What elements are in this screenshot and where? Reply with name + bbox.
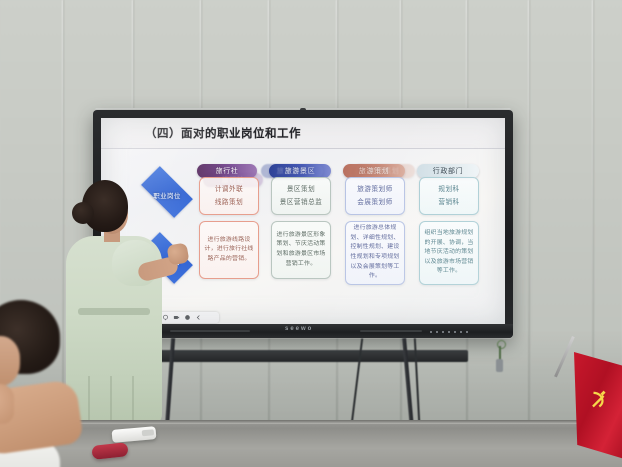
presenter-hair-bun <box>72 202 94 224</box>
role-0-0: 计调外联 <box>215 183 243 196</box>
column-header-2-ghost: 旅游策划 <box>353 164 415 178</box>
role-1-0: 景区策划 <box>287 183 315 196</box>
role-2-1: 会展策划师 <box>357 196 392 209</box>
meeting-room-scene: （四）面对的职业岗位和工作 职业岗位 工作内容 旅行社 旅行社 计调外联 线路策… <box>0 0 622 467</box>
audience-person <box>0 300 172 467</box>
column-header-3-text: 行政部门 <box>433 166 463 176</box>
role-card-3[interactable]: 规划科 营销科 <box>419 177 479 215</box>
column-header-1-ghost: 旅游景区 <box>261 164 323 178</box>
role-card-0[interactable]: 计调外联 线路策划 <box>199 177 259 215</box>
role-card-1[interactable]: 景区策划 景区营销总监 <box>271 177 331 215</box>
role-2-0: 旅游策划师 <box>357 183 392 196</box>
role-1-1: 景区营销总监 <box>280 196 323 209</box>
desc-1-text: 进行旅游景区形象策划、节庆活动策划和旅游景区市场营销工作。 <box>272 227 330 273</box>
slide-title-bar: （四）面对的职业岗位和工作 <box>101 118 505 149</box>
screenshot-icon[interactable] <box>173 314 180 321</box>
column-header-3[interactable]: 行政部门 <box>417 164 479 178</box>
hammer-sickle-icon <box>588 388 610 412</box>
audience-hand <box>0 384 14 424</box>
page-title: （四）面对的职业岗位和工作 <box>145 125 301 141</box>
hanging-keys <box>494 340 506 374</box>
role-3-1: 营销科 <box>438 196 459 209</box>
audience-arm <box>0 379 84 457</box>
role-0-1: 线路策划 <box>215 196 243 209</box>
desc-card-2[interactable]: 进行旅游总体规划、详细性规划、控制性规划、建设性规划和专项规划以及会展策划等工作… <box>345 221 405 285</box>
role-card-2[interactable]: 旅游策划师 会展策划师 <box>345 177 405 215</box>
desc-card-1[interactable]: 进行旅游景区形象策划、节庆活动策划和旅游景区市场营销工作。 <box>271 221 331 279</box>
desc-3-text: 组织当地旅游规划的开展、协调，当地节庆活动的策划以及旅游市场营销等工作。 <box>420 225 478 281</box>
desc-card-3[interactable]: 组织当地旅游规划的开展、协调，当地节庆活动的策划以及旅游市场营销等工作。 <box>419 221 479 285</box>
display-led-row <box>430 330 478 333</box>
palette-icon[interactable] <box>184 314 191 321</box>
wall-mount-bracket <box>148 350 468 362</box>
desc-2-text: 进行旅游总体规划、详细性规划、控制性规划、建设性规划和专项规划以及会展策划等工作… <box>346 221 404 285</box>
back-arrow-icon[interactable] <box>195 314 202 321</box>
role-3-0: 规划科 <box>438 183 459 196</box>
desc-0-text: 进行旅游线路设计，进行旅行社线路产品的营销。 <box>200 232 258 269</box>
desc-card-0[interactable]: 进行旅游线路设计，进行旅行社线路产品的营销。 <box>199 221 259 279</box>
cpc-party-flag <box>566 336 622 467</box>
display-brand-logo: seewo <box>285 326 313 332</box>
